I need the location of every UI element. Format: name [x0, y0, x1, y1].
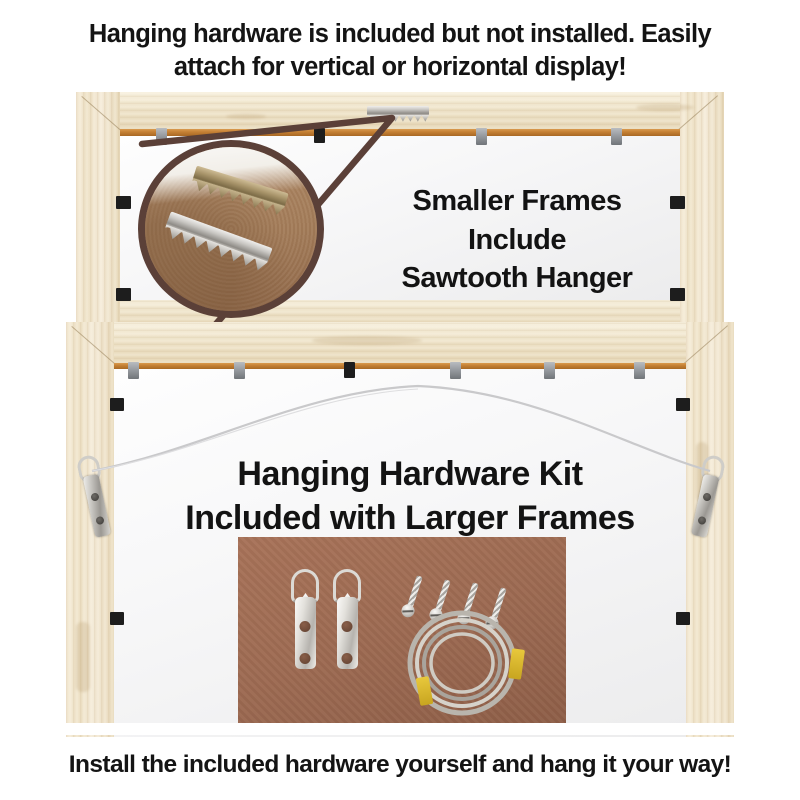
sawtooth-teeth: [367, 115, 429, 125]
bottom-caption: Install the included hardware yourself a…: [0, 750, 800, 779]
d-ring-screw-hole: [342, 621, 353, 632]
large-frame-inner-lip: [114, 363, 686, 369]
sawtooth-bar: [367, 106, 429, 116]
magnifier-circle: [138, 140, 324, 318]
large-frame-label-line-1: Hanging Hardware Kit: [150, 452, 670, 496]
d-ring-screw-hole: [342, 653, 353, 664]
small-frame-label-line-1: Smaller Frames: [372, 182, 662, 221]
top-caption: Hanging hardware is included but not ins…: [0, 18, 800, 84]
product-infographic: Hanging hardware is included but not ins…: [0, 0, 800, 800]
retaining-clip: [634, 362, 645, 379]
wood-grain-mark: [226, 114, 266, 119]
wood-grain-mark: [636, 104, 694, 111]
retaining-clip: [670, 288, 685, 301]
hardware-kit-photo: [238, 537, 566, 723]
large-frame-label-line-2: Included with Larger Frames: [150, 496, 670, 540]
small-frame-label-line-2: Include: [372, 221, 662, 260]
large-frame-label: Hanging Hardware Kit Included with Large…: [150, 452, 670, 540]
top-caption-line-1: Hanging hardware is included but not ins…: [0, 18, 800, 51]
retaining-clip: [670, 196, 685, 209]
top-caption-line-2: attach for vertical or horizontal displa…: [0, 51, 800, 84]
retaining-clip: [116, 196, 131, 209]
retaining-clip: [611, 128, 622, 145]
d-ring-screw-hole: [300, 653, 311, 664]
kit-d-ring-hanger: [288, 569, 322, 669]
retaining-clip: [110, 398, 124, 411]
retaining-clip: [344, 362, 355, 378]
retaining-clip: [476, 128, 487, 145]
retaining-clip: [156, 128, 167, 145]
small-frame-label: Smaller Frames Include Sawtooth Hanger: [372, 182, 662, 298]
bottom-crop-mask: [0, 723, 800, 735]
kit-d-ring-hanger: [330, 569, 364, 669]
screw-shaft: [407, 575, 423, 607]
retaining-clip: [314, 128, 325, 143]
retaining-clip: [110, 612, 124, 625]
retaining-clip: [116, 288, 131, 301]
sawtooth-hanger-icon: [367, 106, 429, 123]
retaining-clip: [544, 362, 555, 379]
d-ring-screw-hole: [300, 621, 311, 632]
small-frame-label-line-3: Sawtooth Hanger: [372, 259, 662, 298]
wood-grain-mark: [76, 622, 90, 692]
retaining-clip: [128, 362, 139, 379]
retaining-clip: [234, 362, 245, 379]
retaining-clip: [676, 612, 690, 625]
wood-grain-mark: [312, 336, 422, 345]
retaining-clip: [676, 398, 690, 411]
small-frame-inner-lip: [120, 129, 680, 136]
small-frame-right-rail: [680, 92, 724, 330]
retaining-clip: [450, 362, 461, 379]
small-frame-left-rail: [76, 92, 120, 330]
wire-tape-band: [508, 648, 525, 680]
